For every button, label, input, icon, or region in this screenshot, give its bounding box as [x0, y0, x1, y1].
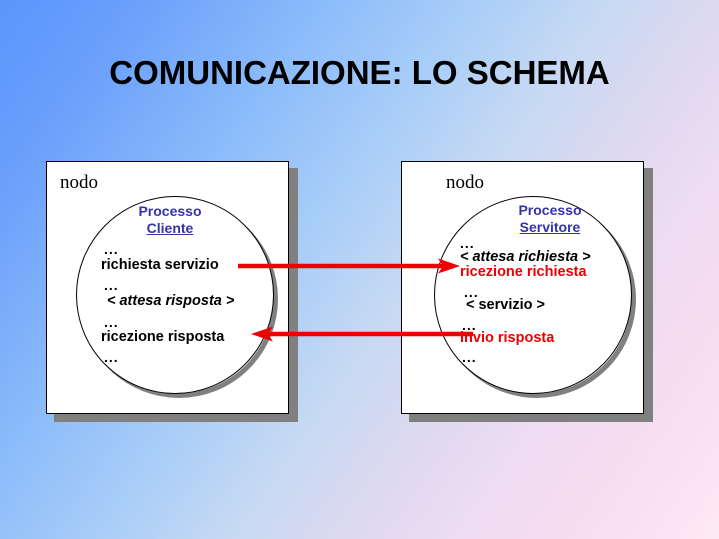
right-line-7: ...	[462, 350, 477, 365]
right-process-heading: Processo Servitore	[496, 202, 604, 236]
slide-canvas: COMUNICAZIONE: LO SCHEMA nodo Processo C…	[0, 0, 719, 539]
right-process-heading-line2: Servitore	[520, 219, 581, 235]
left-line-6: ...	[104, 350, 119, 365]
right-line-6: invio risposta	[460, 331, 554, 346]
left-line-5: ricezione risposta	[101, 330, 224, 345]
left-line-1: richiesta servizio	[101, 258, 219, 273]
right-line-4: < servizio >	[466, 298, 545, 313]
right-line-1: < attesa richiesta >	[460, 250, 591, 265]
right-line-2: ricezione richiesta	[460, 265, 587, 280]
left-process-heading-line2: Cliente	[147, 220, 194, 236]
left-line-4: ...	[104, 315, 119, 330]
left-line-2: ...	[104, 278, 119, 293]
left-process-heading-line1: Processo	[138, 203, 201, 219]
right-process-heading-line1: Processo	[518, 202, 581, 218]
left-line-3: < attesa risposta >	[107, 294, 234, 309]
response-arrow	[251, 326, 473, 342]
left-line-0: ...	[104, 242, 119, 257]
left-process-heading: Processo Cliente	[120, 203, 220, 237]
right-node-label: nodo	[446, 172, 484, 194]
page-title: COMUNICAZIONE: LO SCHEMA	[0, 54, 719, 92]
left-node-label: nodo	[60, 172, 98, 194]
request-arrow	[238, 258, 460, 274]
